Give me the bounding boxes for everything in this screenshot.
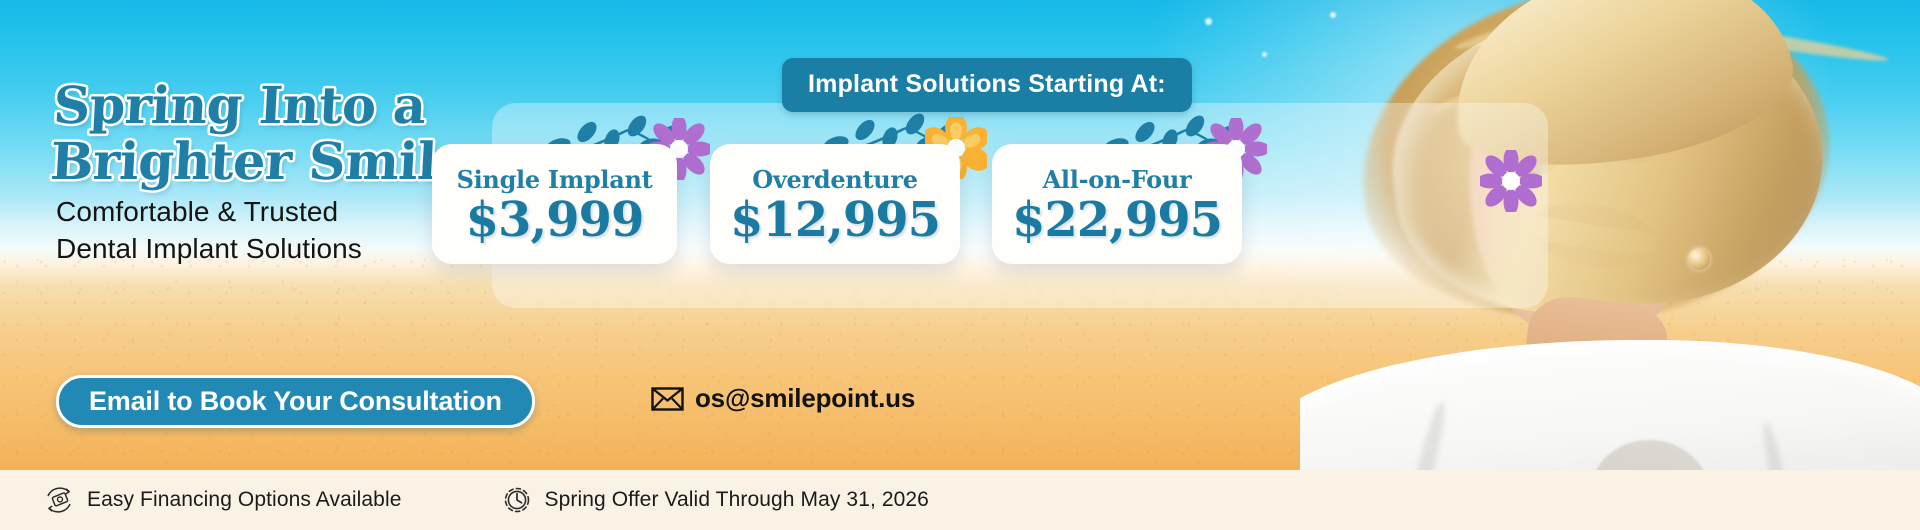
clock-icon	[502, 485, 532, 515]
envelope-icon	[651, 387, 684, 411]
price-card-overdenture[interactable]: Overdenture $12,995	[710, 144, 960, 264]
financing-info-item: Easy Financing Options Available	[44, 485, 402, 515]
financing-icon	[44, 485, 74, 515]
price-card-all-on-four[interactable]: All-on-Four $22,995	[992, 144, 1242, 264]
price-card-label: Overdenture	[710, 165, 960, 194]
price-card-amount: $3,999	[432, 195, 677, 245]
price-card-label: All-on-Four	[992, 165, 1242, 194]
email-address-text: os@smilepoint.us	[695, 383, 915, 414]
dental-promo-banner: Spring Into a Brighter Smile Comfortable…	[0, 0, 1920, 530]
price-card-single-implant[interactable]: Single Implant $3,999	[432, 144, 677, 264]
email-address-row[interactable]: os@smilepoint.us	[651, 383, 915, 414]
headline-block: Spring Into a Brighter Smile	[52, 78, 492, 190]
page-title: Spring Into a Brighter Smile	[49, 78, 495, 190]
price-card-amount: $12,995	[710, 195, 960, 245]
earring	[1688, 248, 1710, 270]
starting-at-badge: Implant Solutions Starting At:	[782, 58, 1192, 112]
offer-validity-text: Spring Offer Valid Through May 31, 2026	[545, 488, 929, 512]
email-consultation-button-label: Email to Book Your Consultation	[89, 386, 502, 417]
financing-info-text: Easy Financing Options Available	[87, 488, 402, 512]
headline-line-2: Brighter Smile	[49, 134, 492, 190]
offer-validity-item: Spring Offer Valid Through May 31, 2026	[502, 485, 929, 515]
bottom-info-bar: Easy Financing Options Available Spring …	[0, 470, 1920, 530]
price-card-amount: $22,995	[992, 195, 1242, 245]
headline-line-1: Spring Into a	[52, 78, 495, 134]
price-card-list: Single Implant $3,999 Overdenture $12,99…	[432, 144, 1552, 276]
price-card-label: Single Implant	[432, 165, 677, 194]
sparkle-icon	[1262, 52, 1267, 57]
sparkle-icon	[1205, 18, 1212, 25]
email-consultation-button[interactable]: Email to Book Your Consultation	[56, 375, 535, 428]
